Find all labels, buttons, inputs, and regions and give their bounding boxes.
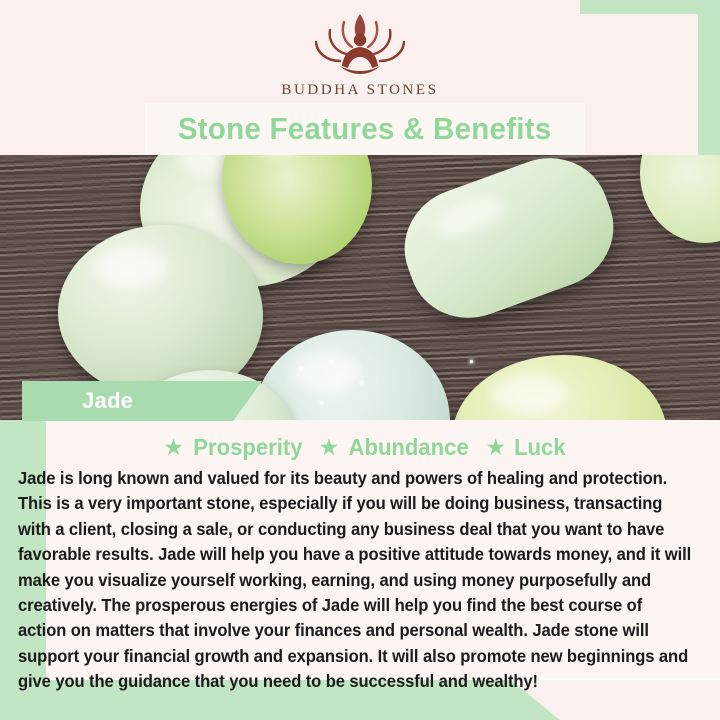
content-panel: ★ Prosperity ★ Abundance ★ Luck Jade is …: [46, 420, 720, 678]
page-title: Stone Features & Benefits: [178, 111, 552, 147]
keyword-label: Luck: [514, 434, 566, 461]
keyword-item: ★ Prosperity: [163, 434, 304, 461]
sparkle-dot: [330, 360, 333, 363]
keyword-row: ★ Prosperity ★ Abundance ★ Luck: [46, 420, 720, 461]
title-band: Stone Features & Benefits: [145, 103, 585, 155]
sparkle-dot: [470, 360, 473, 363]
star-icon: ★: [319, 436, 340, 459]
star-icon: ★: [485, 436, 506, 459]
sparkle-dot: [300, 367, 303, 370]
keyword-item: ★ Abundance: [319, 434, 472, 461]
stone-name-label: Jade: [82, 388, 133, 414]
sparkle-dot: [320, 401, 323, 404]
brand-logo: BUDDHA STONES: [0, 8, 720, 118]
poster-root: BUDDHA STONES Stone Features & Benefits …: [0, 0, 720, 720]
stone-photo: [0, 155, 720, 420]
sparkle-dot: [360, 381, 363, 384]
brand-wordmark: BUDDHA STONES: [281, 82, 438, 99]
keyword-label: Abundance: [349, 434, 469, 461]
star-icon: ★: [163, 436, 184, 459]
keyword-label: Prosperity: [193, 434, 302, 461]
keyword-item: ★ Luck: [485, 434, 566, 461]
stone-name-banner: Jade: [22, 381, 262, 421]
stone-description: Jade is long known and valued for its be…: [18, 466, 694, 695]
lotus-meditation-figure-icon: [300, 8, 420, 80]
